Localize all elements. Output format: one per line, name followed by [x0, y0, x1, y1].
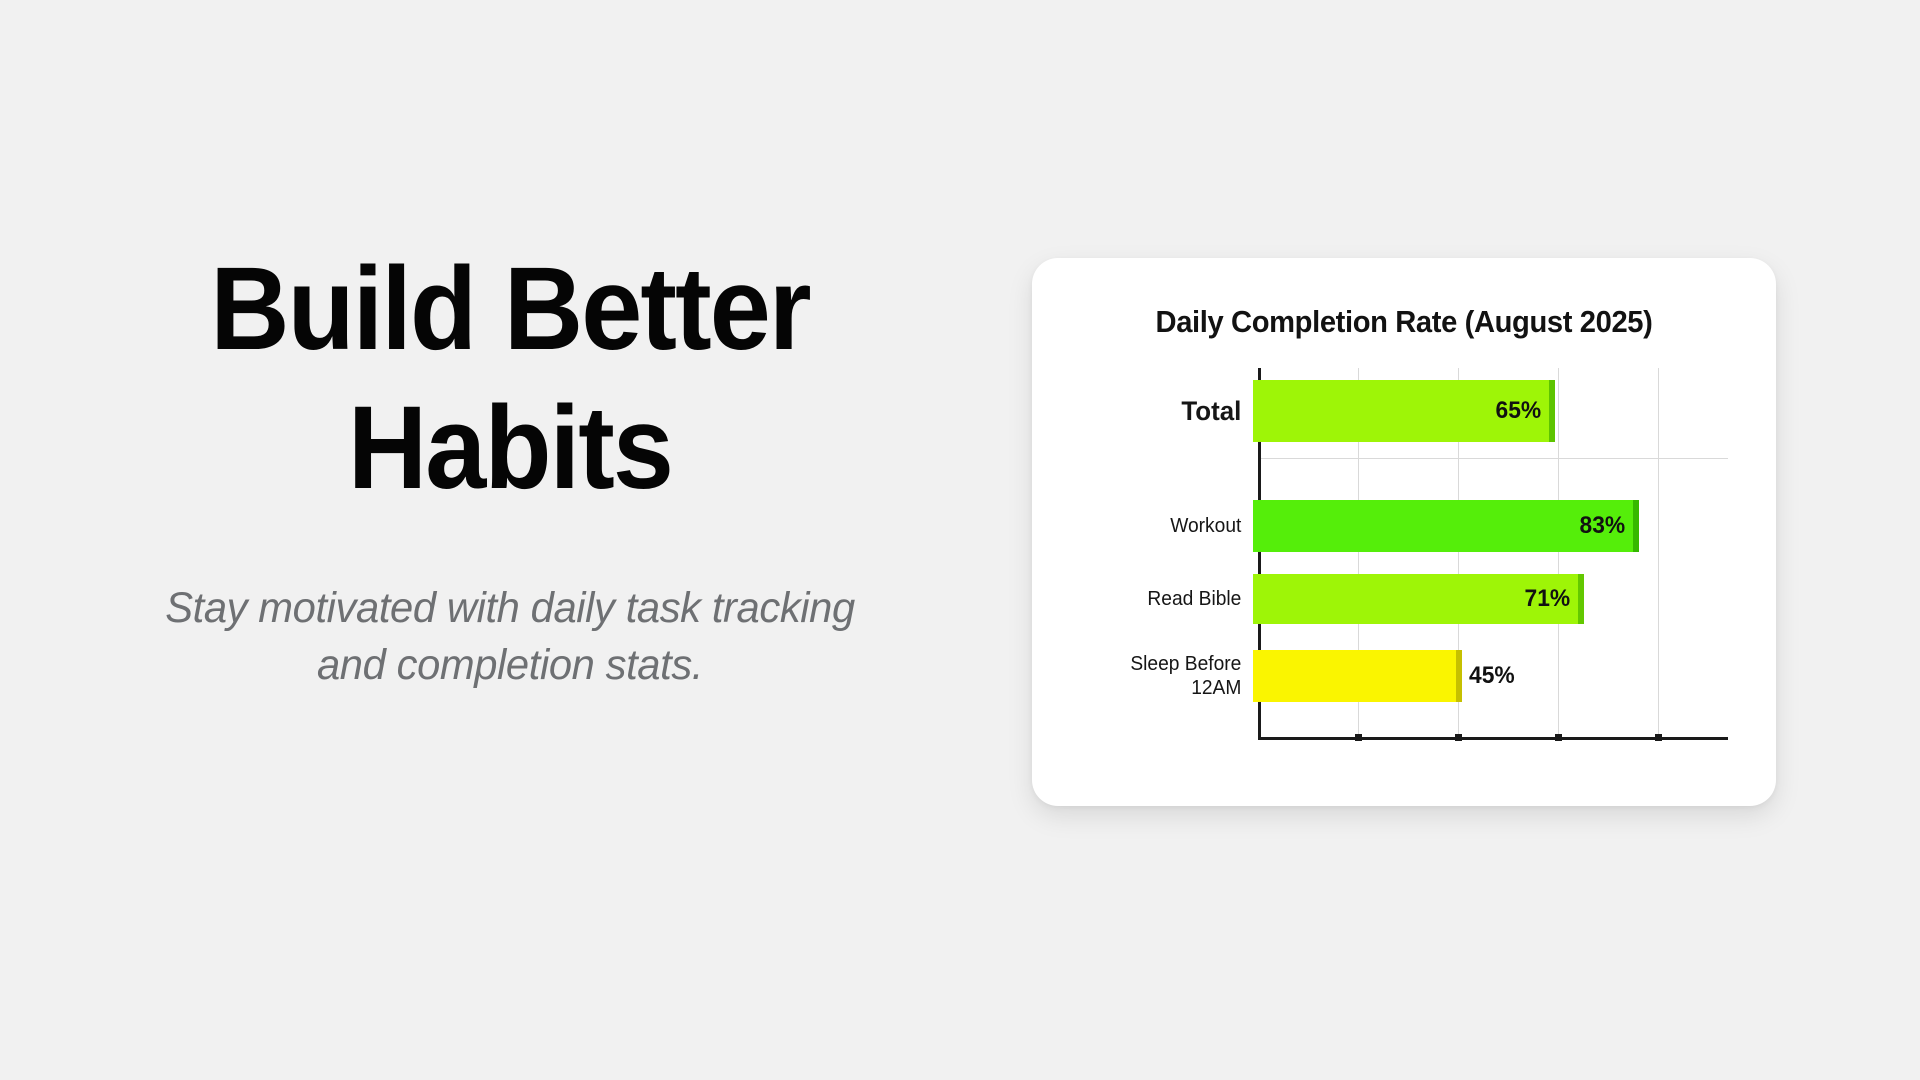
bar-total[interactable]: 65% [1253, 380, 1555, 442]
chart-title: Daily Completion Rate (August 2025) [1054, 304, 1753, 340]
page-subtitle: Stay motivated with daily task tracking … [151, 580, 869, 694]
chart-row-read-bible[interactable]: Read Bible 71% [1080, 574, 1730, 624]
bar-value-label: 45% [1463, 662, 1514, 690]
chart-row-workout[interactable]: Workout 83% [1080, 500, 1730, 552]
bar-end-cap [1456, 650, 1462, 702]
bar-value-label: 65% [1496, 397, 1554, 425]
chart-row-sleep-before-12am[interactable]: Sleep Before 12AM 45% [1080, 650, 1730, 702]
bar-sleep-before-12am[interactable]: 45% [1253, 650, 1462, 702]
chart-card: Daily Completion Rate (August 2025) Tota… [1032, 258, 1776, 806]
bar-read-bible[interactable]: 71% [1253, 574, 1584, 624]
bar-workout[interactable]: 83% [1253, 500, 1639, 552]
chart-category-label: Total [1087, 395, 1250, 428]
page-title: Build Better Habits [166, 240, 854, 518]
chart-row-total[interactable]: Total 65% [1080, 380, 1730, 442]
chart-category-label: Workout [1087, 514, 1250, 538]
chart-category-label: Sleep Before 12AM [1087, 652, 1250, 701]
bar-track: 45% [1250, 650, 1730, 702]
chart-category-label: Read Bible [1087, 587, 1250, 611]
bar-track: 71% [1250, 574, 1730, 624]
bar-value-label: 83% [1580, 512, 1638, 540]
slide-canvas: Build Better Habits Stay motivated with … [0, 0, 1920, 1080]
bar-track: 83% [1250, 500, 1730, 552]
chart-bars: Total 65% Workout 83% [1080, 368, 1730, 740]
hero-section: Build Better Habits Stay motivated with … [140, 240, 880, 694]
bar-value-label: 71% [1525, 585, 1583, 613]
chart-plot-area: Total 65% Workout 83% [1080, 368, 1730, 768]
bar-track: 65% [1250, 380, 1730, 442]
